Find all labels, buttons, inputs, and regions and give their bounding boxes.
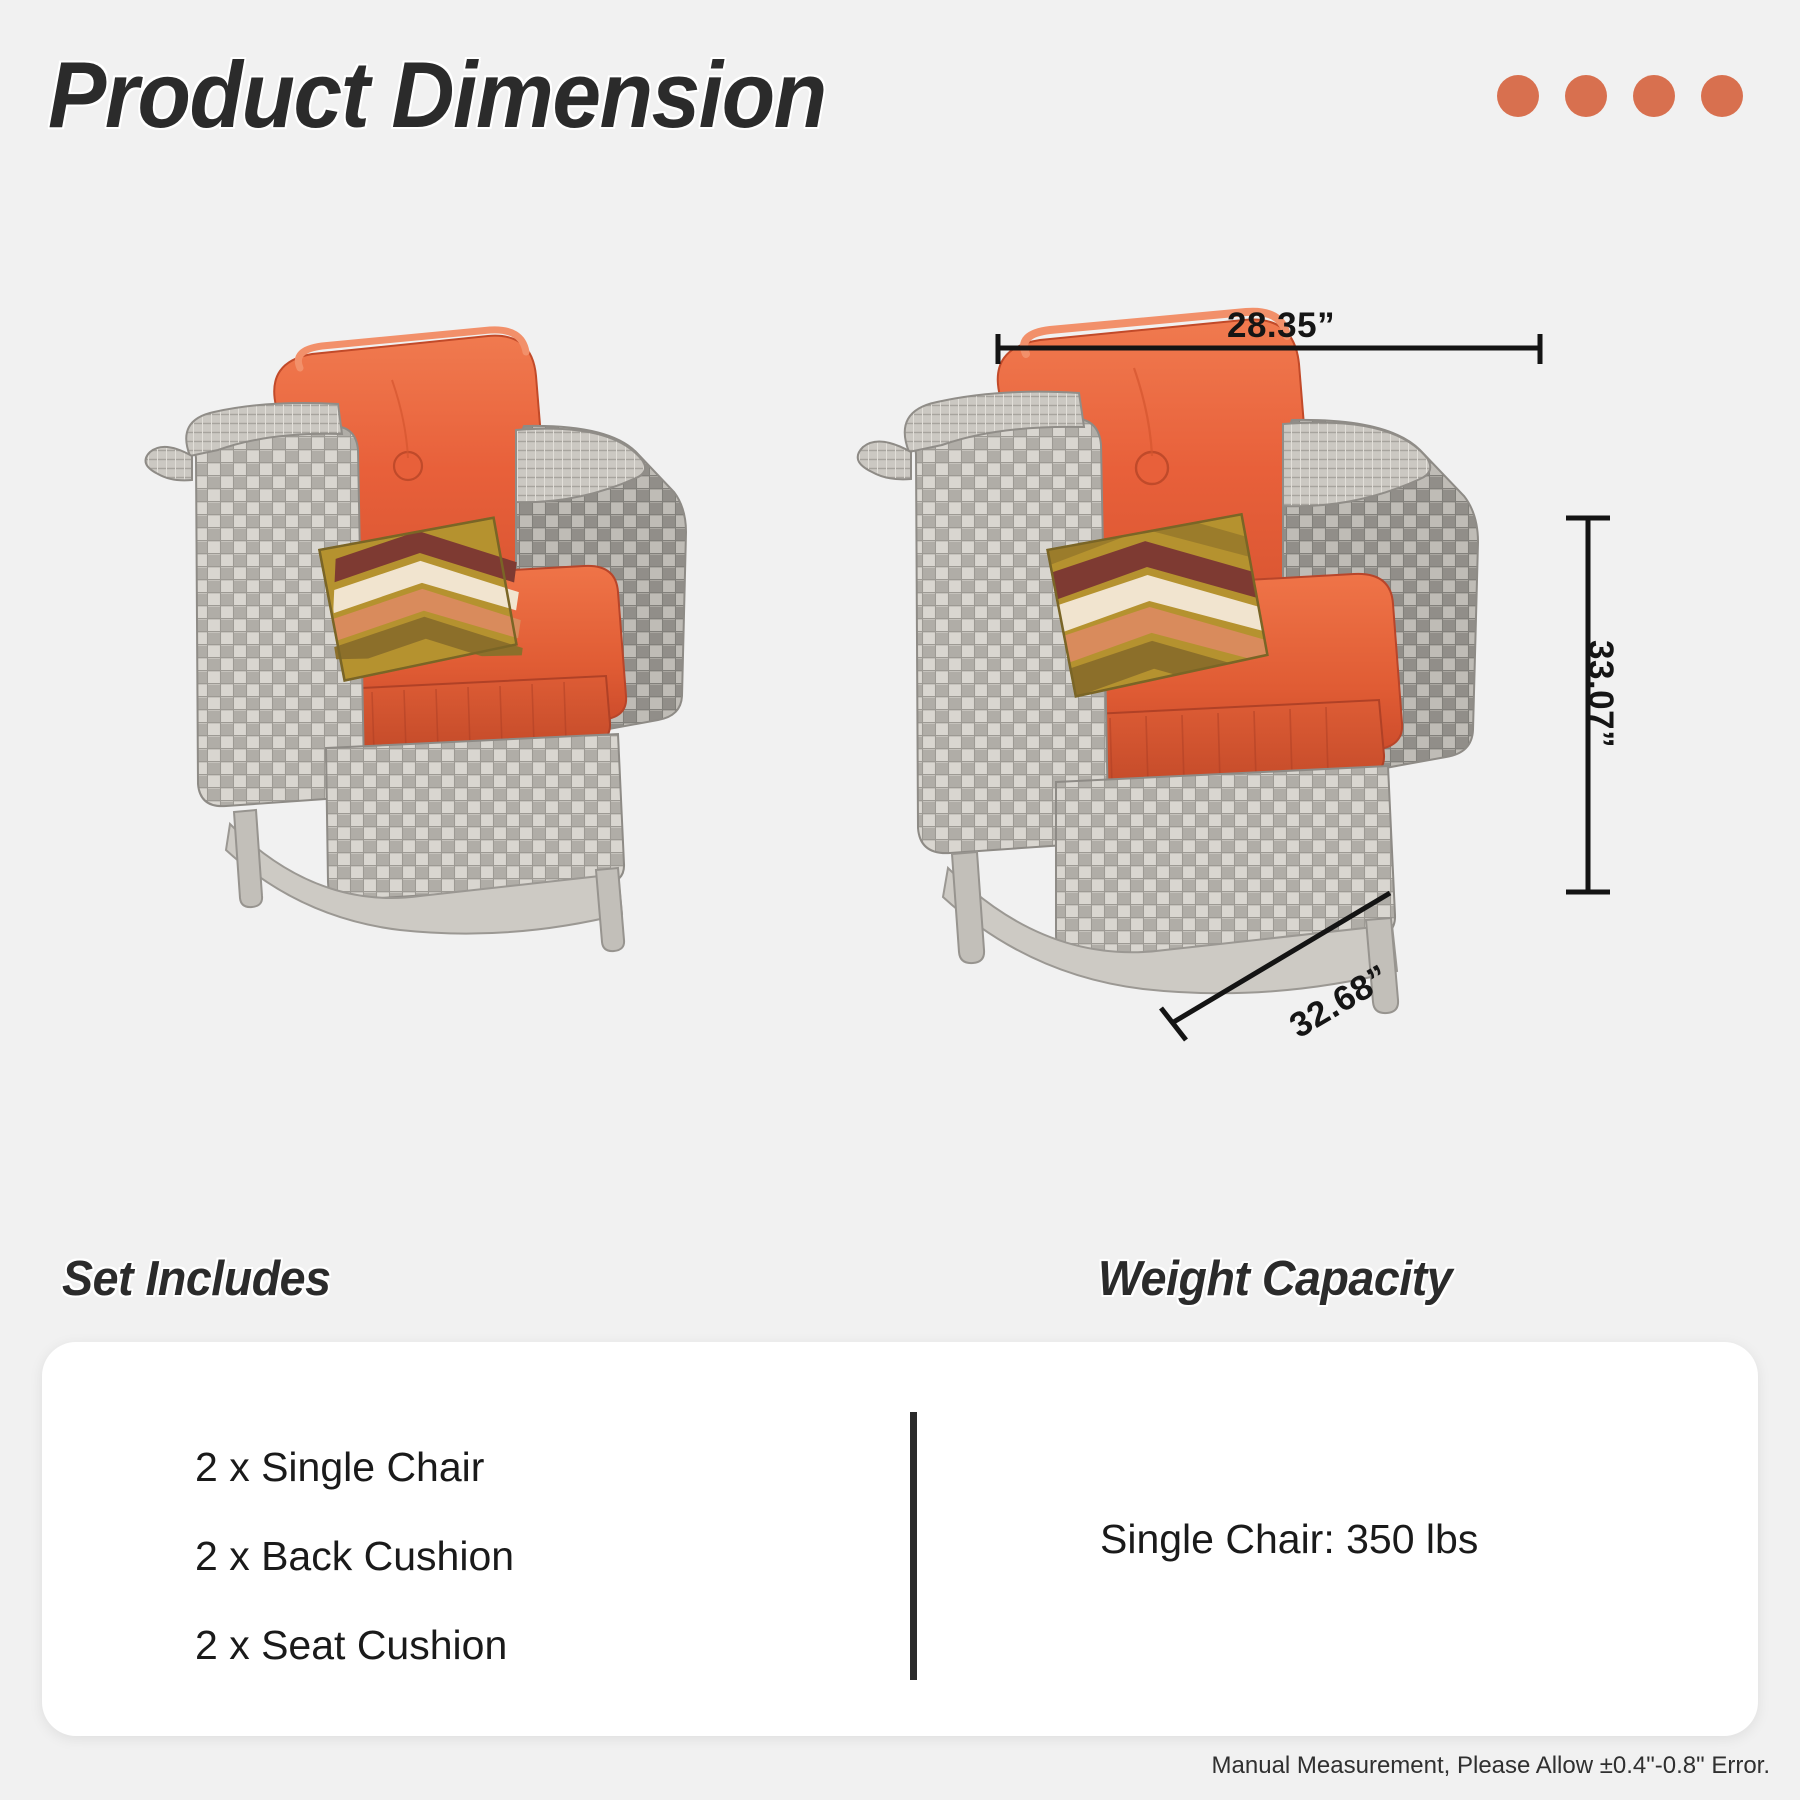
list-item: 2 x Seat Cushion <box>195 1624 514 1667</box>
page-title: Product Dimension <box>48 48 826 142</box>
infographic-canvas: Product Dimension <box>0 0 1800 1800</box>
dimension-label-width: 28.35” <box>1227 306 1335 346</box>
dot-icon <box>1565 75 1607 117</box>
chair-leg <box>952 852 984 963</box>
cushion-button <box>1136 452 1168 484</box>
dot-icon <box>1497 75 1539 117</box>
dot-icon <box>1633 75 1675 117</box>
set-includes-list: 2 x Single Chair 2 x Back Cushion 2 x Se… <box>195 1446 514 1667</box>
list-item: 2 x Single Chair <box>195 1446 514 1489</box>
product-illustration <box>0 230 1800 1230</box>
dimension-label-height: 33.07” <box>1580 640 1620 748</box>
list-item: 2 x Back Cushion <box>195 1535 514 1578</box>
decorative-dots <box>1497 75 1743 117</box>
section-heading-weight-capacity: Weight Capacity <box>1098 1255 1452 1304</box>
product-image-chair-right <box>858 312 1478 1013</box>
dot-icon <box>1701 75 1743 117</box>
card-divider <box>910 1412 917 1680</box>
chair-leg <box>596 868 624 951</box>
product-image-chair-left <box>146 330 687 951</box>
chair-leg <box>234 810 262 907</box>
measurement-disclaimer: Manual Measurement, Please Allow ±0.4"-0… <box>1212 1752 1770 1780</box>
weight-capacity-value: Single Chair: 350 lbs <box>1100 1516 1478 1563</box>
section-heading-set-includes: Set Includes <box>62 1255 331 1304</box>
